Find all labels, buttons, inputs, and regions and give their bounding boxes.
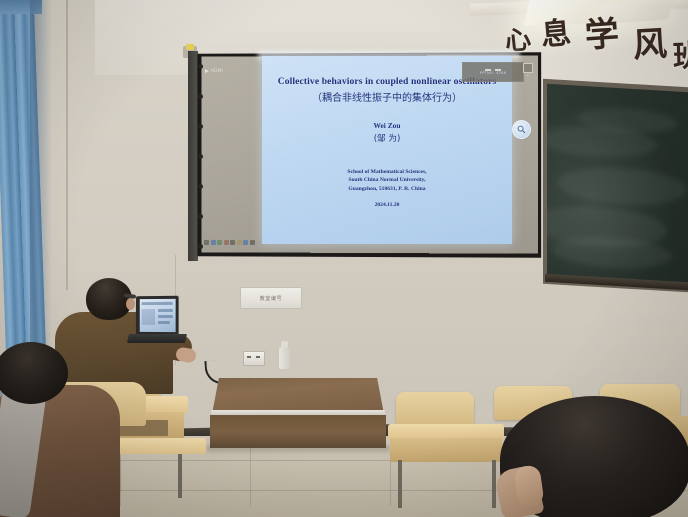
wall-placard-label: 教室编号 — [260, 295, 282, 302]
presenter-overlay-toolbar[interactable]: PPTNO. 4286 — [462, 62, 524, 82]
projection-watermark: HDMI — [205, 68, 223, 73]
calligraphy-char-2: 息 — [540, 19, 573, 52]
laptop-operator-ear — [126, 298, 135, 310]
taskbar-icon-settings[interactable] — [250, 240, 255, 245]
magnifier-icon[interactable] — [512, 120, 531, 139]
desk-leg — [398, 460, 402, 508]
classroom-photo: 心 息 学 风 班 HDMI Collective behaviors in c… — [0, 0, 688, 517]
desk-front-panel — [390, 438, 502, 462]
taskbar-icon-browser[interactable] — [211, 240, 216, 245]
presentation-slide: Collective behaviors in coupled nonlinea… — [262, 56, 512, 244]
calligraphy-char-4: 风 — [632, 27, 668, 63]
calligraphy-char-3: 学 — [584, 17, 620, 53]
slide-subtitle: （耦合非线性振子中的集体行为） — [262, 89, 512, 104]
slide-author-english: Wei Zou — [262, 121, 512, 130]
slide-affiliation-line-2: South China Normal University, — [262, 176, 512, 184]
projection-taskbar[interactable] — [204, 238, 260, 246]
laptop-operator-head — [86, 278, 132, 320]
toolbar-label-row: PPTNO. 4286 — [466, 71, 520, 76]
lecture-podium-top — [212, 378, 384, 414]
taskbar-icon-pdf[interactable] — [224, 240, 229, 245]
desk-leg — [492, 460, 496, 508]
calligraphy-char-1: 心 — [504, 27, 533, 56]
water-bottle — [279, 347, 290, 369]
lecture-podium-shadow — [206, 446, 390, 454]
taskbar-icon-start[interactable] — [204, 240, 209, 245]
close-button[interactable]: ✕ — [524, 73, 531, 79]
curtain-shadow — [30, 0, 52, 360]
laptop-keyboard-base[interactable] — [127, 334, 187, 343]
slide-affiliation: School of Mathematical Sciences, South C… — [262, 168, 512, 193]
chair-back — [396, 392, 474, 428]
slide-author-chinese: (邹 为) — [262, 132, 512, 144]
play-triangle-icon — [205, 69, 209, 73]
maximize-button[interactable] — [523, 63, 533, 73]
slide-affiliation-line-1: School of Mathematical Sciences, — [262, 168, 512, 176]
taskbar-icon-mail[interactable] — [230, 240, 235, 245]
slide-affiliation-line-3: Guangzhou, 510631, P. R. China — [262, 185, 512, 193]
blackboard — [547, 84, 688, 288]
projection-watermark-label: HDMI — [211, 68, 223, 73]
screen-mount-clip — [186, 44, 194, 50]
lecture-podium-front — [210, 415, 386, 448]
taskbar-icon-explorer[interactable] — [217, 240, 222, 245]
calligraphy-char-5: 班 — [672, 41, 688, 72]
wall-placard: 教室编号 — [240, 287, 302, 309]
toolbar-label: PPTNO. 4286 — [480, 71, 506, 76]
screen-rail-dots — [198, 58, 203, 254]
taskbar-icon-powerpoint[interactable] — [243, 240, 248, 245]
wall-seam — [66, 0, 68, 290]
taskbar-icon-folder[interactable] — [237, 240, 242, 245]
laptop-screen[interactable] — [140, 299, 176, 332]
slide-date: 2024.11.20 — [262, 202, 512, 208]
